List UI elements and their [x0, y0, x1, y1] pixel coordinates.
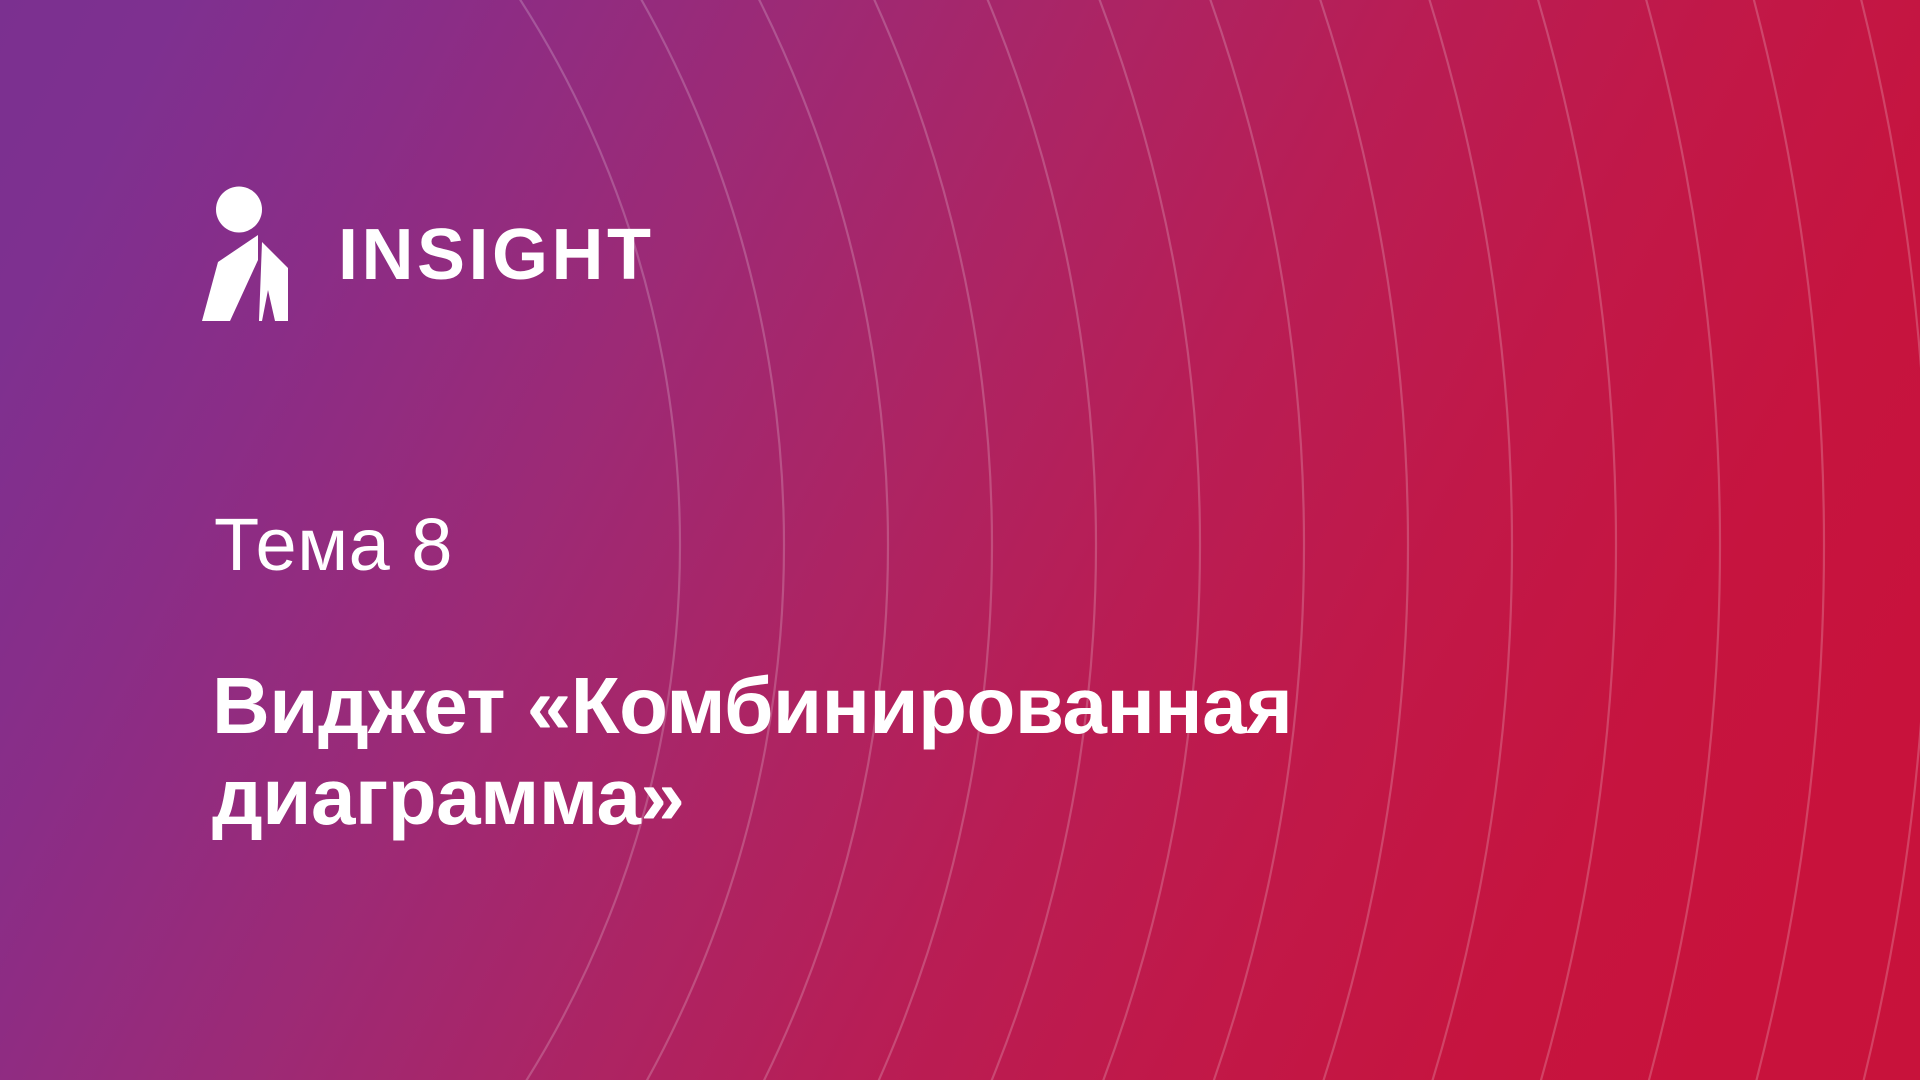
page-title-line-2: диаграмма»: [212, 751, 1772, 842]
page-title-line-1: Виджет «Комбинированная: [212, 660, 1772, 751]
title-slide: INSIGHT Тема 8 Виджет «Комбинированная д…: [0, 0, 1920, 1080]
insight-figure-logo-icon: [196, 186, 308, 321]
topic-label: Тема 8: [214, 508, 453, 582]
page-title: Виджет «Комбинированная диаграмма»: [212, 660, 1772, 842]
brand-logo: INSIGHT: [196, 188, 655, 318]
brand-wordmark: INSIGHT: [338, 219, 655, 291]
